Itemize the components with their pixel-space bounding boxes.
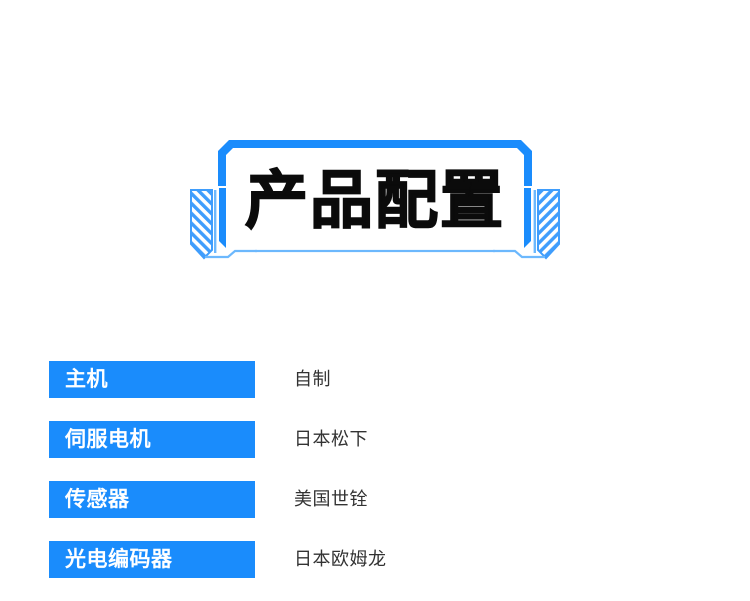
spec-row: 传感器 美国世铨 xyxy=(0,481,750,541)
spec-key-label: 传感器 xyxy=(65,489,130,510)
spec-value-label: 日本欧姆龙 xyxy=(294,551,387,569)
spec-key-label: 伺服电机 xyxy=(65,429,151,450)
spec-value-label: 自制 xyxy=(294,371,331,389)
spec-key-cell: 伺服电机 xyxy=(49,421,255,458)
spec-key-cell: 传感器 xyxy=(49,481,255,518)
spec-key-label: 主机 xyxy=(65,369,108,390)
spec-value-label: 日本松下 xyxy=(294,431,368,449)
page-title: 产品配置 xyxy=(183,138,567,263)
spec-value-cell: 日本欧姆龙 xyxy=(294,541,387,578)
spec-value-cell: 美国世铨 xyxy=(294,481,368,518)
spec-value-label: 美国世铨 xyxy=(294,491,368,509)
spec-key-label: 光电编码器 xyxy=(65,549,173,570)
title-banner: 产品配置 xyxy=(183,138,567,263)
spec-value-cell: 自制 xyxy=(294,361,331,398)
spec-key-cell: 主机 xyxy=(49,361,255,398)
spec-row: 光电编码器 日本欧姆龙 xyxy=(0,541,750,601)
spec-row: 伺服电机 日本松下 xyxy=(0,421,750,481)
spec-list: 主机 自制 伺服电机 日本松下 传感器 美国世铨 光电编码器 xyxy=(0,361,750,601)
spec-row: 主机 自制 xyxy=(0,361,750,421)
product-configuration-page: 产品配置 主机 自制 伺服电机 日本松下 传感器 美国世铨 xyxy=(0,0,750,587)
spec-value-cell: 日本松下 xyxy=(294,421,368,458)
spec-key-cell: 光电编码器 xyxy=(49,541,255,578)
